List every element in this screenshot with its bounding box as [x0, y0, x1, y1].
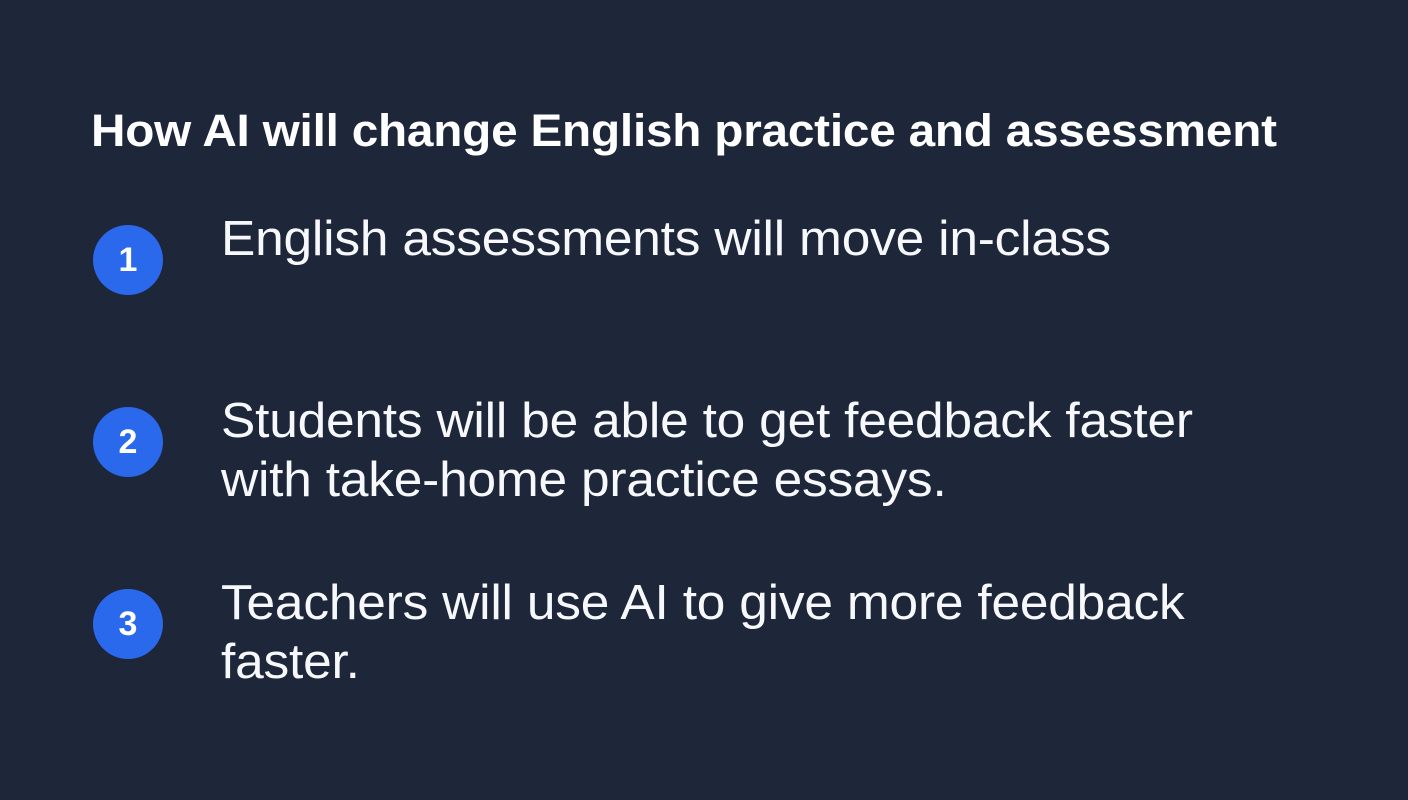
number-badge-1: 1: [93, 225, 163, 295]
list-item-text: English assessments will move in-class: [221, 210, 1111, 269]
list-item: 1 English assessments will move in-class: [93, 210, 1323, 295]
page-title: How AI will change English practice and …: [91, 103, 1408, 159]
slide-canvas: How AI will change English practice and …: [0, 0, 1408, 800]
number-badge-2: 2: [93, 407, 163, 477]
list-item: 3 Teachers will use AI to give more feed…: [93, 574, 1323, 692]
list-item: 2 Students will be able to get feedback …: [93, 392, 1323, 510]
badge-number-label: 1: [119, 243, 138, 277]
number-badge-3: 3: [93, 589, 163, 659]
badge-number-label: 3: [119, 607, 138, 641]
list-item-text: Teachers will use AI to give more feedba…: [221, 574, 1282, 692]
badge-number-label: 2: [119, 425, 138, 459]
list-item-text: Students will be able to get feedback fa…: [221, 392, 1282, 510]
